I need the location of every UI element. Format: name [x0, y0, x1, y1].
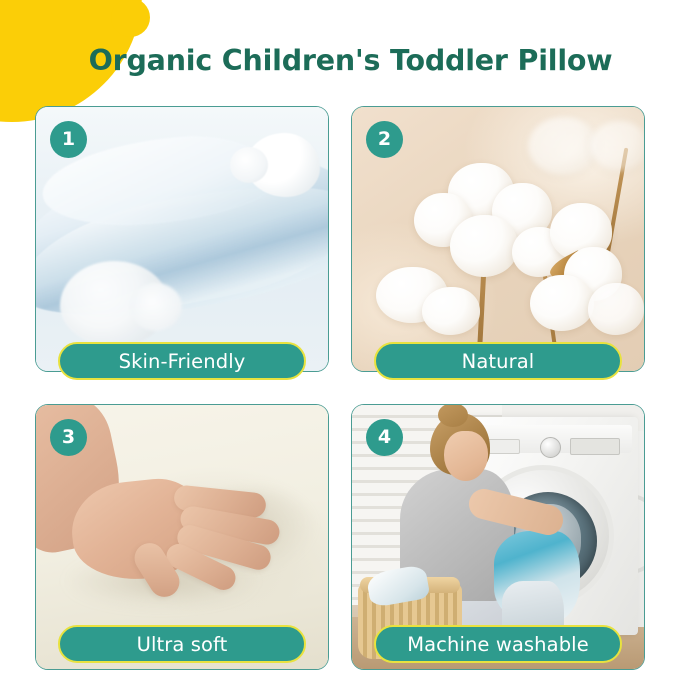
feature-label-ultra-soft[interactable]: Ultra soft [58, 625, 306, 663]
feature-grid: 1 Skin-Friendly 2 Natural [35, 106, 645, 670]
feature-badge-4: 4 [366, 419, 403, 456]
page-title: Organic Children's Toddler Pillow [0, 44, 679, 77]
feature-label-natural[interactable]: Natural [374, 342, 622, 380]
feature-card-machine-washable[interactable]: 4 Machine washable [351, 404, 645, 670]
feature-badge-2: 2 [366, 121, 403, 158]
small-yellow-circle-decoration [111, 0, 150, 37]
feature-card-ultra-soft[interactable]: 3 Ultra soft [35, 404, 329, 670]
feature-card-natural[interactable]: 2 Natural [351, 106, 645, 372]
infographic-root: Organic Children's Toddler Pillow 1 Skin… [0, 0, 679, 674]
feature-card-skin-friendly[interactable]: 1 Skin-Friendly [35, 106, 329, 372]
feature-badge-1: 1 [50, 121, 87, 158]
feature-label-skin-friendly[interactable]: Skin-Friendly [58, 342, 306, 380]
feature-label-machine-washable[interactable]: Machine washable [374, 625, 622, 663]
feature-badge-3: 3 [50, 419, 87, 456]
